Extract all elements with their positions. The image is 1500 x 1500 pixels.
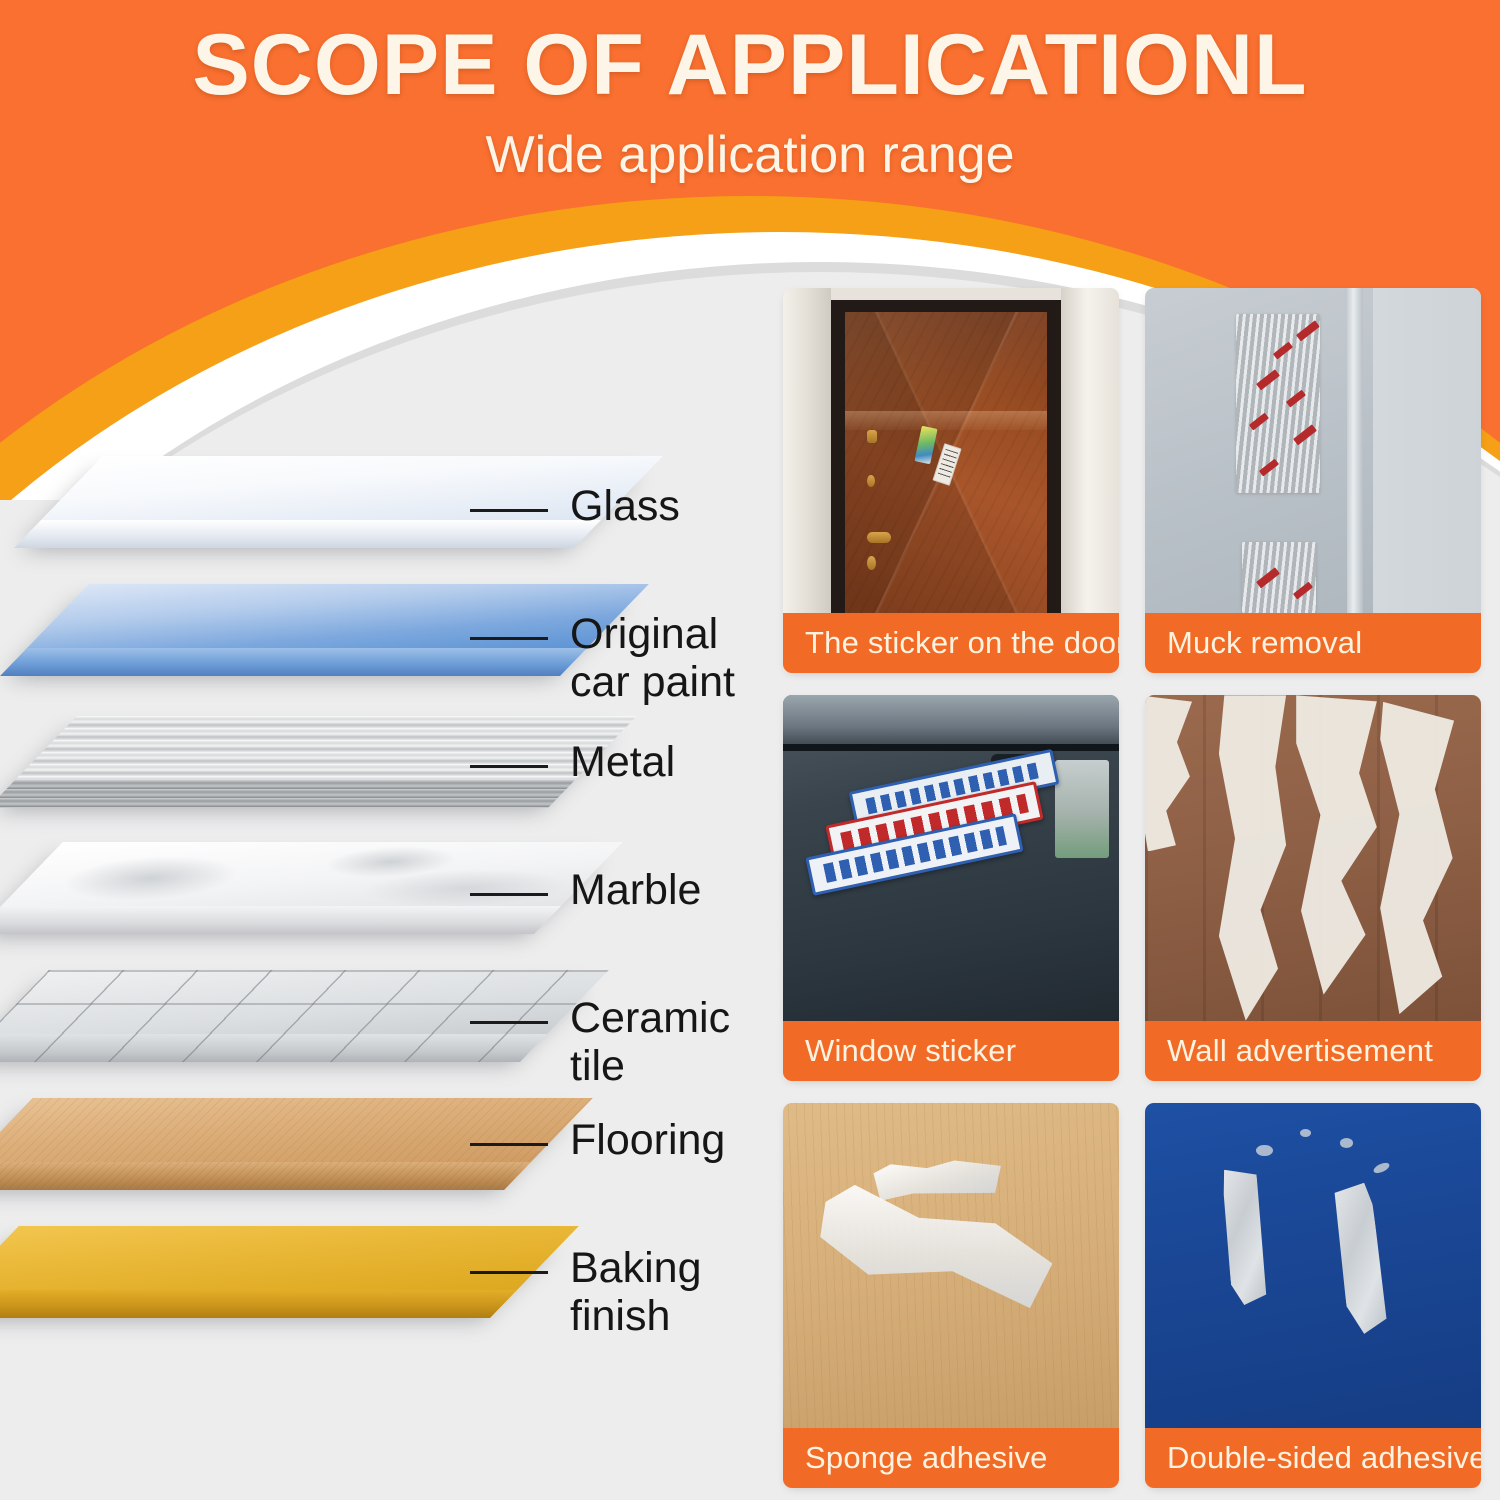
adhesive-fleck bbox=[1300, 1129, 1312, 1137]
leader-line-icon bbox=[470, 509, 548, 512]
application-card-double-sided[interactable]: Double-sided adhesive bbox=[1145, 1103, 1481, 1488]
application-photo-grid: The sticker on the door Muck removal bbox=[783, 288, 1485, 1488]
adhesive-residue-strip-lower bbox=[809, 1173, 1059, 1322]
legend-label-glass: Glass bbox=[570, 482, 680, 530]
leader-line-icon bbox=[470, 1271, 548, 1274]
leader-line-icon bbox=[470, 1021, 548, 1024]
leader-line-icon bbox=[470, 893, 548, 896]
legend-label-marble: Marble bbox=[570, 866, 701, 914]
door-handle-icon bbox=[867, 532, 891, 543]
adhesive-residue-strip-upper bbox=[873, 1157, 1003, 1202]
card-caption-muck: Muck removal bbox=[1145, 613, 1481, 673]
card-caption-double-sided: Double-sided adhesive bbox=[1145, 1428, 1481, 1488]
legend-item-baking-finish: Baking finish bbox=[470, 1244, 790, 1340]
title-block: SCOPE OF APPLICATIONL Wide application r… bbox=[0, 0, 1500, 183]
leader-line-icon bbox=[470, 1143, 548, 1146]
sticker-residue-lower bbox=[1242, 542, 1316, 614]
photo-wall-advertisement bbox=[1145, 695, 1481, 1020]
leader-line-icon bbox=[470, 765, 548, 768]
tape-residue-strip-right bbox=[1330, 1182, 1391, 1336]
legend-label-car-paint: Original car paint bbox=[570, 610, 735, 706]
door-peephole-icon bbox=[867, 430, 877, 444]
paper-residue-patch bbox=[1380, 702, 1454, 1014]
light-reflection-band bbox=[845, 411, 1047, 429]
application-card-sponge[interactable]: Sponge adhesive bbox=[783, 1103, 1119, 1488]
photo-window-sticker bbox=[783, 695, 1119, 1020]
sticker-residue-upper bbox=[1236, 314, 1320, 493]
door-panel bbox=[845, 312, 1047, 613]
application-card-door[interactable]: The sticker on the door bbox=[783, 288, 1119, 673]
leader-line-icon bbox=[470, 637, 548, 640]
door-jamb-right bbox=[1061, 288, 1119, 613]
legend-item-car-paint: Original car paint bbox=[470, 610, 735, 706]
photo-muck-removal bbox=[1145, 288, 1481, 613]
paper-residue-patch bbox=[1145, 695, 1192, 851]
application-card-wall[interactable]: Wall advertisement bbox=[1145, 695, 1481, 1080]
legend-label-flooring: Flooring bbox=[570, 1116, 725, 1164]
photo-sticker-on-door bbox=[783, 288, 1119, 613]
legend-item-metal: Metal bbox=[470, 738, 675, 786]
page-subtitle: Wide application range bbox=[0, 108, 1500, 183]
photo-sponge-adhesive bbox=[783, 1103, 1119, 1428]
legend-item-ceramic-tile: Ceramic tile bbox=[470, 994, 790, 1090]
card-caption-window: Window sticker bbox=[783, 1021, 1119, 1081]
door-keyhole-icon bbox=[867, 556, 876, 570]
legend-item-flooring: Flooring bbox=[470, 1116, 725, 1164]
car-roofline bbox=[783, 744, 1119, 751]
card-caption-sponge: Sponge adhesive bbox=[783, 1428, 1119, 1488]
legend-label-ceramic-tile: Ceramic tile bbox=[570, 994, 790, 1090]
legend-label-baking-finish: Baking finish bbox=[570, 1244, 790, 1340]
application-card-window[interactable]: Window sticker bbox=[783, 695, 1119, 1080]
tape-residue-strip-left bbox=[1219, 1166, 1270, 1306]
layer-legend: Glass Original car paint Metal Marble Ce… bbox=[0, 430, 790, 1500]
door-jamb-left bbox=[783, 288, 831, 613]
windshield-tax-disc bbox=[1055, 760, 1109, 858]
adhesive-fleck bbox=[1256, 1145, 1273, 1156]
card-caption-door: The sticker on the door bbox=[783, 613, 1119, 673]
legend-item-marble: Marble bbox=[470, 866, 701, 914]
car-roof bbox=[783, 695, 1119, 747]
legend-label-metal: Metal bbox=[570, 738, 675, 786]
application-card-muck[interactable]: Muck removal bbox=[1145, 288, 1481, 673]
paper-residue-patch bbox=[1219, 695, 1286, 1020]
page-title: SCOPE OF APPLICATIONL bbox=[0, 0, 1500, 108]
wall-molding-line bbox=[1347, 288, 1364, 613]
legend-item-glass: Glass bbox=[470, 482, 680, 530]
wall-panel-right bbox=[1373, 288, 1481, 613]
adhesive-fleck bbox=[1340, 1138, 1353, 1148]
photo-double-sided-adhesive bbox=[1145, 1103, 1481, 1428]
paper-residue-patch bbox=[1296, 695, 1377, 994]
adhesive-fleck bbox=[1373, 1161, 1392, 1175]
card-caption-wall: Wall advertisement bbox=[1145, 1021, 1481, 1081]
